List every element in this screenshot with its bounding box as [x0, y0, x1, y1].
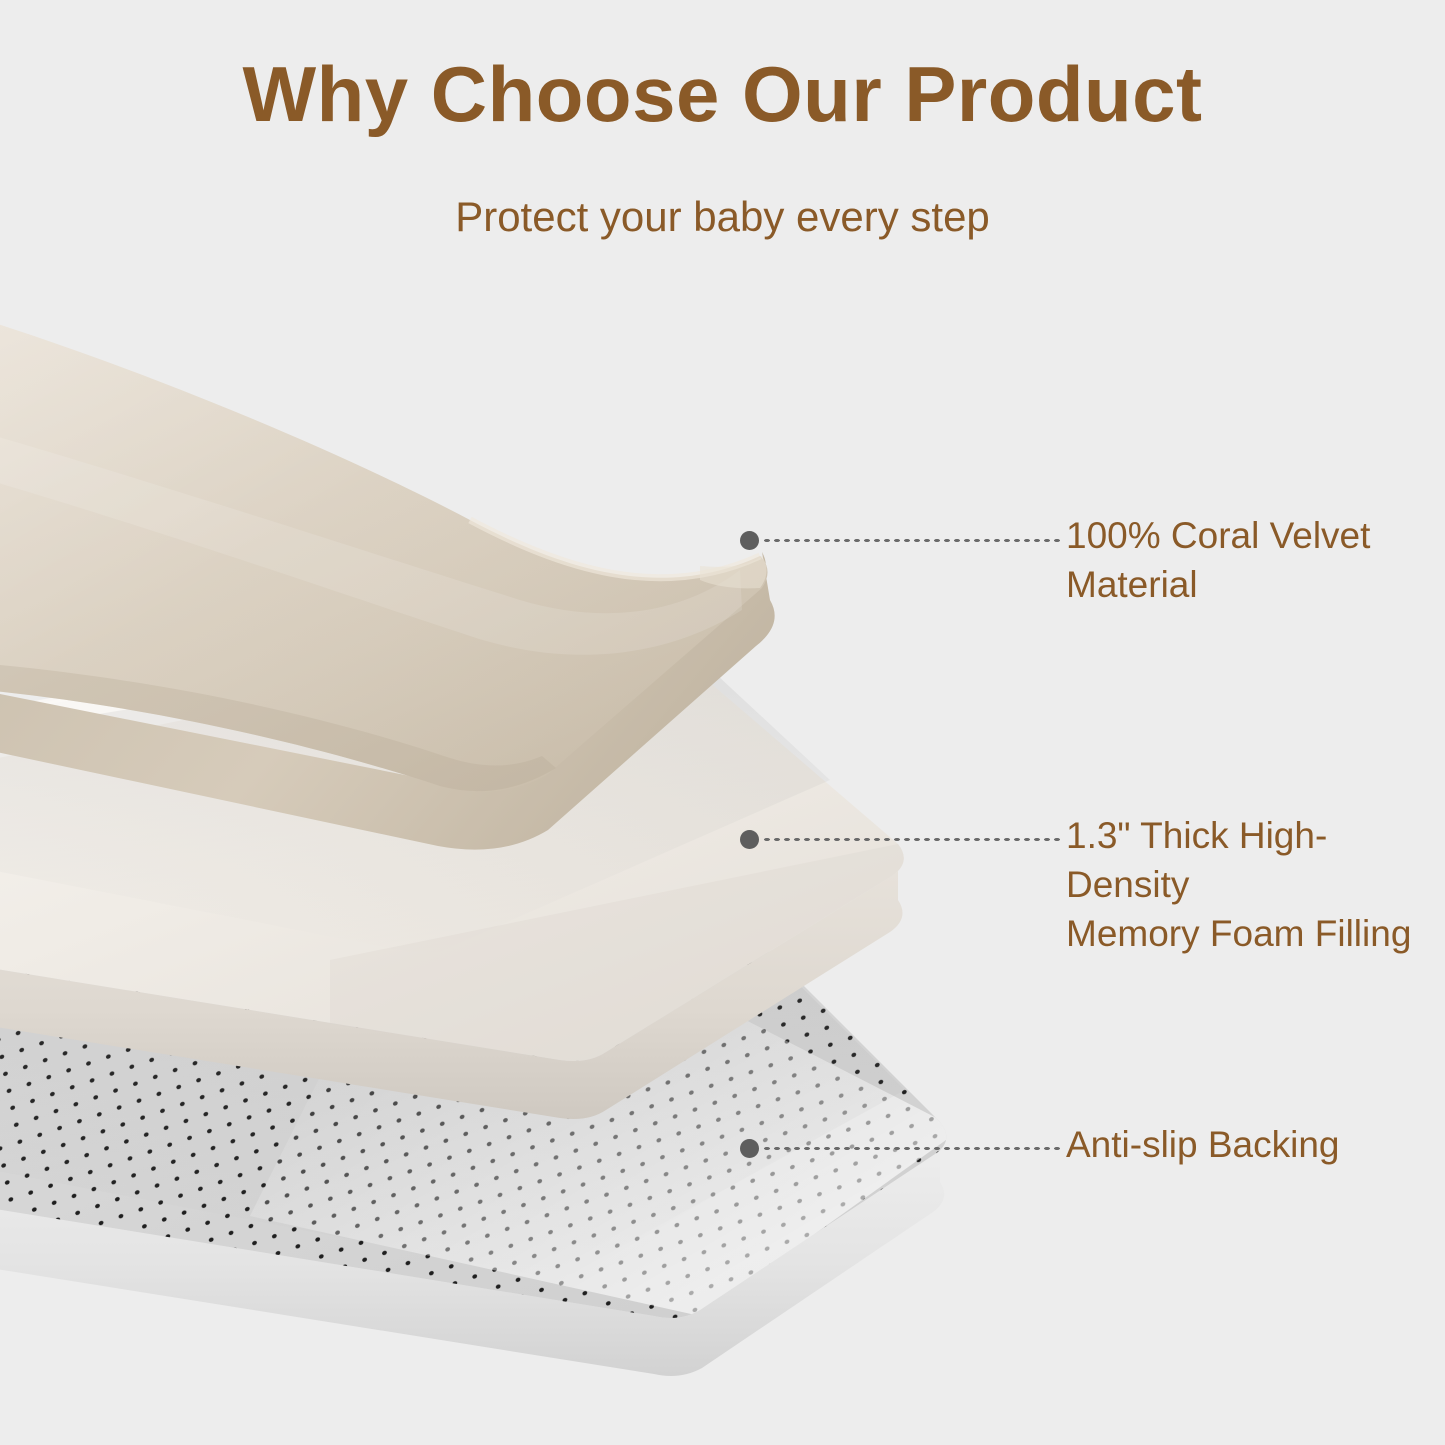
callout-leader-velvet	[762, 538, 1060, 543]
callout-marker-foam-icon	[740, 830, 759, 849]
page-title: Why Choose Our Product	[0, 55, 1445, 133]
callout-label-velvet: 100% Coral Velvet Material	[1066, 511, 1436, 609]
callout-leader-foam	[762, 837, 1060, 842]
callout-marker-backing-icon	[740, 1139, 759, 1158]
callout-label-backing: Anti-slip Backing	[1066, 1120, 1441, 1169]
infographic-canvas: Why Choose Our Product Protect your baby…	[0, 0, 1445, 1445]
callout-leader-backing	[762, 1146, 1060, 1151]
callout-label-foam: 1.3" Thick High-Density Memory Foam Fill…	[1066, 811, 1441, 959]
page-subtitle: Protect your baby every step	[0, 196, 1445, 238]
callout-marker-velvet-icon	[740, 531, 759, 550]
